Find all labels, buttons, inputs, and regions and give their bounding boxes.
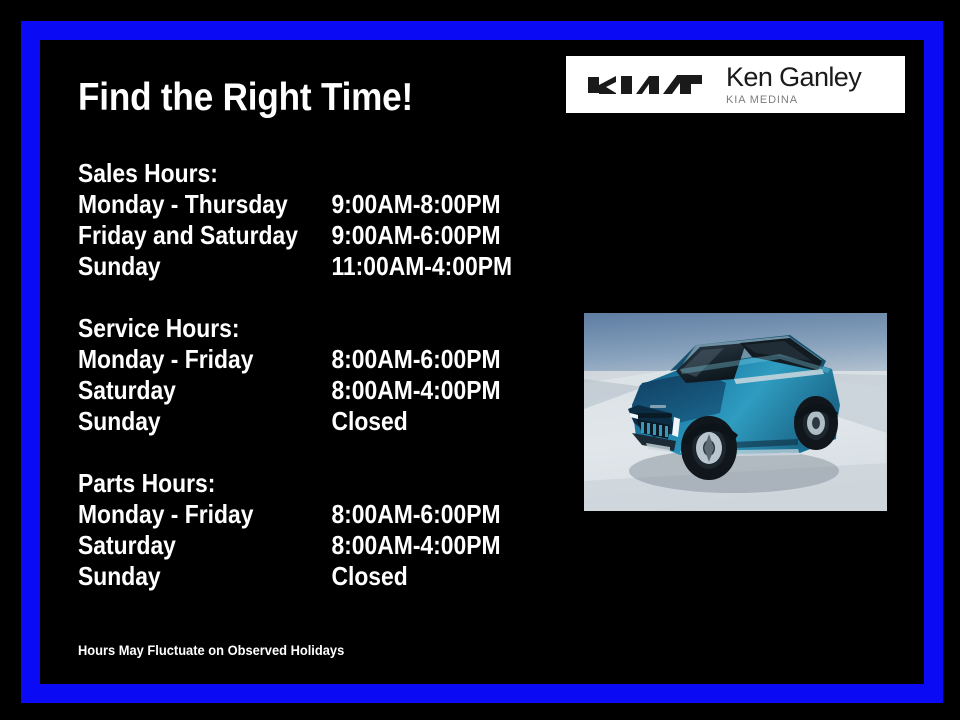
- kia-ev9-suv-photo: [584, 313, 887, 511]
- hours-row-days: Monday - Friday: [78, 499, 253, 530]
- hours-block-heading: Sales Hours:: [78, 158, 492, 189]
- hours-row-time: 9:00AM-6:00PM: [331, 220, 500, 251]
- hours-row-days: Monday - Thursday: [78, 189, 288, 220]
- hours-row-days: Sunday: [78, 406, 161, 437]
- hours-row: Friday and Saturday9:00AM-6:00PM: [78, 220, 536, 251]
- hours-row-days: Monday - Friday: [78, 344, 253, 375]
- hours-row-days: Sunday: [78, 561, 161, 592]
- hours-row: Monday - Friday8:00AM-6:00PM: [78, 344, 536, 375]
- hours-slide: Find the Right Time! Sales Hours:Monday …: [0, 0, 960, 720]
- hours-row: Saturday8:00AM-4:00PM: [78, 530, 536, 561]
- hours-row-time: 8:00AM-6:00PM: [331, 344, 500, 375]
- hours-block-heading: Service Hours:: [78, 313, 492, 344]
- dealer-name-block: Ken Ganley KIA MEDINA: [726, 64, 861, 106]
- slide-content: Find the Right Time! Sales Hours:Monday …: [0, 0, 960, 720]
- hours-row: Monday - Thursday9:00AM-8:00PM: [78, 189, 536, 220]
- hours-row: Monday - Friday8:00AM-6:00PM: [78, 499, 536, 530]
- hours-block: Parts Hours:Monday - Friday8:00AM-6:00PM…: [78, 468, 548, 592]
- hours-row-time: 8:00AM-4:00PM: [331, 375, 500, 406]
- hours-row-time: 8:00AM-6:00PM: [331, 499, 500, 530]
- hours-row-time: 11:00AM-4:00PM: [331, 251, 512, 282]
- hours-row-days: Saturday: [78, 375, 176, 406]
- hours-row: SundayClosed: [78, 406, 536, 437]
- hours-row-time: 8:00AM-4:00PM: [331, 530, 500, 561]
- hours-row-time: Closed: [331, 561, 407, 592]
- hours-row-days: Saturday: [78, 530, 176, 561]
- dealer-name: Ken Ganley: [726, 64, 861, 91]
- hours-row: Saturday8:00AM-4:00PM: [78, 375, 536, 406]
- hours-block: Service Hours:Monday - Friday8:00AM-6:00…: [78, 313, 548, 437]
- hours-row-time: 9:00AM-8:00PM: [331, 189, 500, 220]
- dealer-logo-banner: Ken Ganley KIA MEDINA: [566, 56, 905, 113]
- hours-block-heading: Parts Hours:: [78, 468, 492, 499]
- hours-row: Sunday11:00AM-4:00PM: [78, 251, 536, 282]
- kia-logo-icon: [584, 70, 706, 100]
- page-title: Find the Right Time!: [78, 76, 413, 120]
- hours-row-time: Closed: [331, 406, 407, 437]
- hours-block: Sales Hours:Monday - Thursday9:00AM-8:00…: [78, 158, 548, 282]
- hours-row-days: Friday and Saturday: [78, 220, 298, 251]
- hours-sections: Sales Hours:Monday - Thursday9:00AM-8:00…: [78, 158, 548, 592]
- holiday-disclaimer: Hours May Fluctuate on Observed Holidays: [78, 641, 344, 659]
- hours-row: SundayClosed: [78, 561, 536, 592]
- hours-row-days: Sunday: [78, 251, 161, 282]
- dealer-location: KIA MEDINA: [726, 94, 861, 106]
